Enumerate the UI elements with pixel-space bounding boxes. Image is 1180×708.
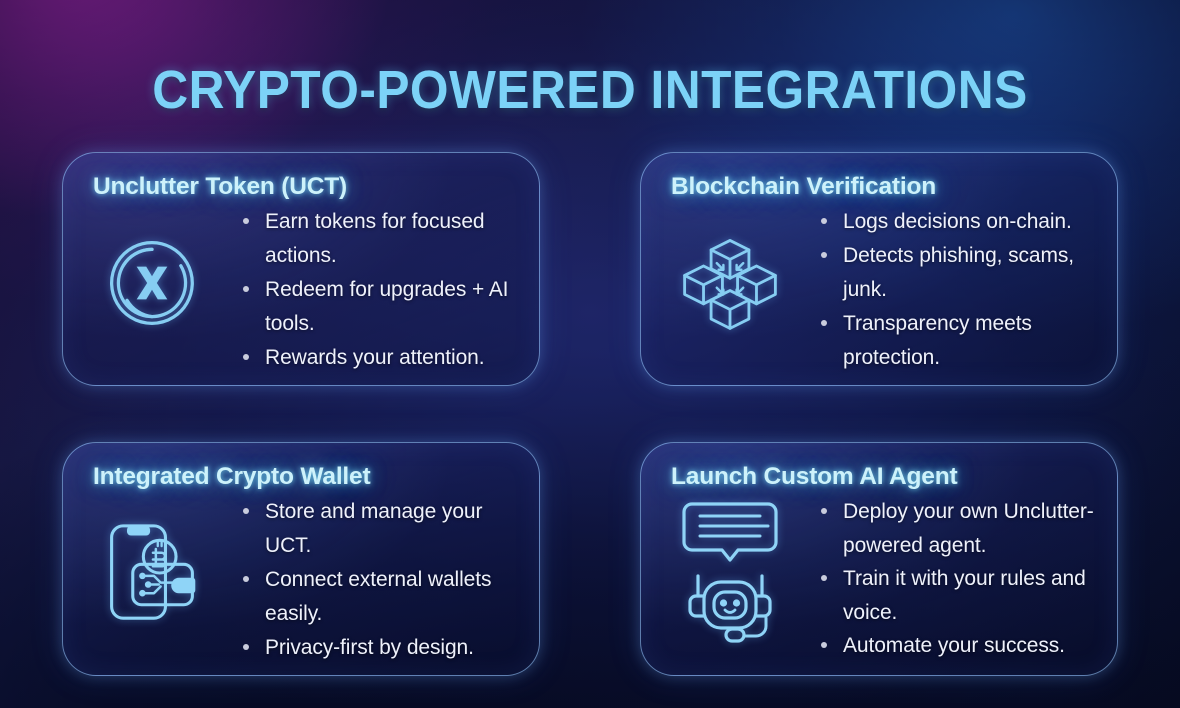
card-title: Unclutter Token (UCT) xyxy=(93,173,523,201)
token-circle-x-icon xyxy=(93,203,211,363)
card-body: Store and manage your UCT. Connect exter… xyxy=(93,495,523,665)
list-item: Logs decisions on-chain. xyxy=(819,205,1101,239)
list-item: Connect external wallets easily. xyxy=(241,563,523,631)
page-title: CRYPTO-POWERED INTEGRATIONS xyxy=(47,62,1133,119)
feature-card-integrated-crypto-wallet[interactable]: Integrated Crypto Wallet xyxy=(62,442,540,676)
feature-card-launch-custom-ai-agent[interactable]: Launch Custom AI Agent xyxy=(640,442,1118,676)
list-item: Privacy-first by design. xyxy=(241,631,523,665)
feature-card-unclutter-token[interactable]: Unclutter Token (UCT) Earn tokens for fo… xyxy=(62,152,540,386)
bullet-list: Deploy your own Unclutter-powered agent.… xyxy=(793,495,1101,663)
blockchain-cubes-icon xyxy=(671,203,789,363)
card-body: Logs decisions on-chain. Detects phishin… xyxy=(671,205,1101,375)
list-item: Transparency meets protection. xyxy=(819,307,1101,375)
list-item: Rewards your attention. xyxy=(241,341,523,375)
card-title: Blockchain Verification xyxy=(671,173,1101,201)
list-item: Store and manage your UCT. xyxy=(241,495,523,563)
list-item: Detects phishing, scams, junk. xyxy=(819,239,1101,307)
list-item: Automate your success. xyxy=(819,629,1101,663)
feature-card-blockchain-verification[interactable]: Blockchain Verification xyxy=(640,152,1118,386)
poster-canvas: CRYPTO-POWERED INTEGRATIONS Unclutter To… xyxy=(0,0,1180,708)
phone-wallet-lock-icon xyxy=(93,493,211,653)
card-title: Launch Custom AI Agent xyxy=(671,463,1101,491)
list-item: Deploy your own Unclutter-powered agent. xyxy=(819,495,1101,562)
chat-bubble-robot-icon xyxy=(671,493,789,653)
bullet-list: Store and manage your UCT. Connect exter… xyxy=(215,495,523,665)
bullet-list: Logs decisions on-chain. Detects phishin… xyxy=(793,205,1101,375)
bullet-list: Earn tokens for focused actions. Redeem … xyxy=(215,205,523,375)
card-title: Integrated Crypto Wallet xyxy=(93,463,523,491)
feature-card-grid: Unclutter Token (UCT) Earn tokens for fo… xyxy=(62,152,1118,690)
list-item: Redeem for upgrades + AI tools. xyxy=(241,273,523,341)
list-item: Train it with your rules and voice. xyxy=(819,562,1101,629)
card-body: Earn tokens for focused actions. Redeem … xyxy=(93,205,523,375)
list-item: Earn tokens for focused actions. xyxy=(241,205,523,273)
card-body: Deploy your own Unclutter-powered agent.… xyxy=(671,495,1101,663)
